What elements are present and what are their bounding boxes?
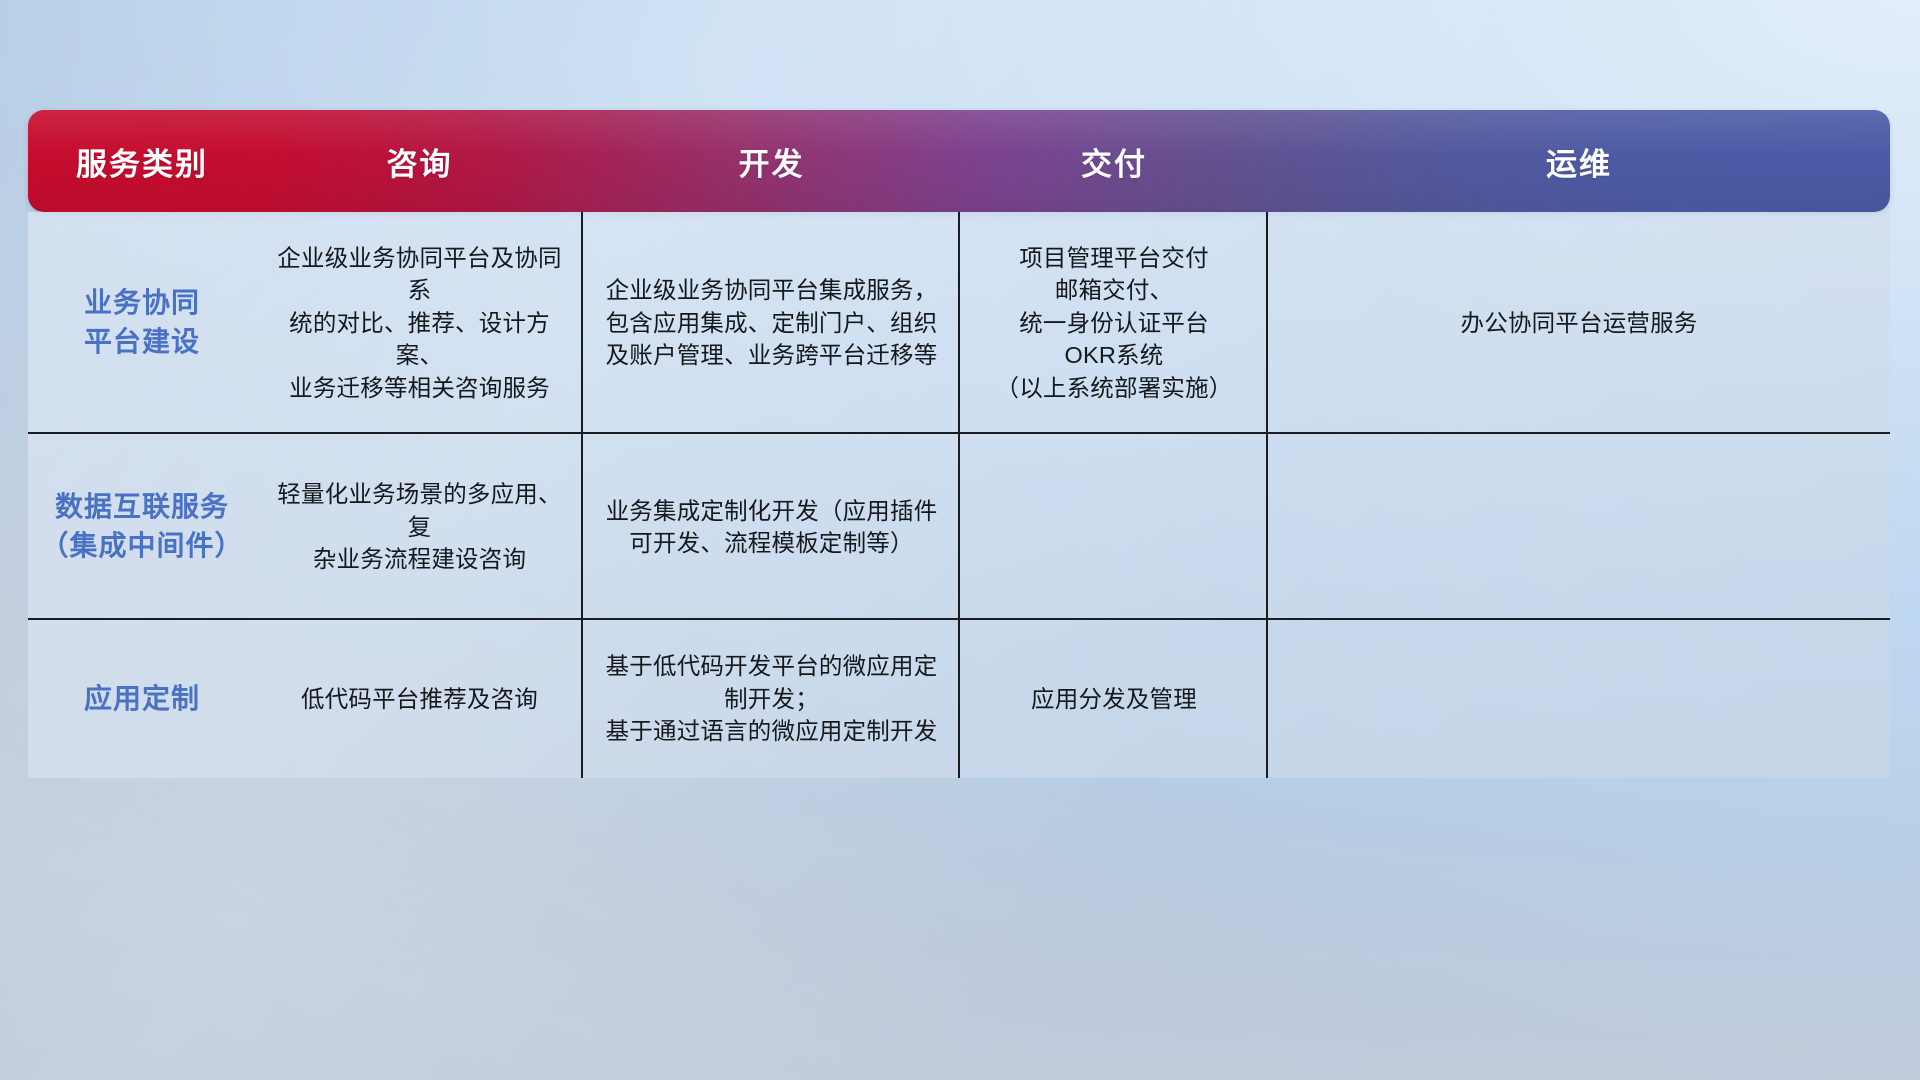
table-row: 应用定制 低代码平台推荐及咨询 基于低代码开发平台的微应用定制开发；基于通过语言…: [28, 620, 1890, 778]
table-row: 业务协同平台建设 企业级业务协同平台及协同系统的对比、推荐、设计方案、业务迁移等…: [28, 212, 1890, 434]
cell-operations: 办公协同平台运营服务: [1268, 212, 1890, 434]
category-label: 数据互联服务（集成中间件）: [40, 488, 243, 565]
cell-delivery: [960, 434, 1268, 620]
cell-operations: [1268, 434, 1890, 620]
category-label: 应用定制: [84, 680, 200, 719]
table-header-row: 服务类别 咨询 开发 交付 运维: [28, 110, 1890, 212]
cell-consulting: 企业级业务协同平台及协同系统的对比、推荐、设计方案、业务迁移等相关咨询服务: [256, 212, 583, 434]
cell-category: 业务协同平台建设: [28, 212, 256, 434]
table-row: 数据互联服务（集成中间件） 轻量化业务场景的多应用、复杂业务流程建设咨询 业务集…: [28, 434, 1890, 620]
column-header-delivery: 交付: [960, 139, 1268, 184]
cell-consulting: 低代码平台推荐及咨询: [256, 620, 583, 778]
cell-text: 办公协同平台运营服务: [1461, 307, 1698, 339]
cell-text: 基于低代码开发平台的微应用定制开发；基于通过语言的微应用定制开发: [606, 650, 938, 747]
service-matrix-table: 服务类别 咨询 开发 交付 运维 业务协同平台建设 企业级业务协同平台及协同系统…: [28, 110, 1890, 778]
cell-development: 企业级业务协同平台集成服务，包含应用集成、定制门户、组织及账户管理、业务跨平台迁…: [583, 212, 960, 434]
cell-development: 基于低代码开发平台的微应用定制开发；基于通过语言的微应用定制开发: [583, 620, 960, 778]
cell-category: 应用定制: [28, 620, 256, 778]
cell-delivery: 应用分发及管理: [960, 620, 1268, 778]
cell-text: 项目管理平台交付邮箱交付、统一身份认证平台OKR系统（以上系统部署实施）: [996, 242, 1233, 404]
table-body: 业务协同平台建设 企业级业务协同平台及协同系统的对比、推荐、设计方案、业务迁移等…: [28, 212, 1890, 778]
category-label: 业务协同平台建设: [84, 284, 200, 361]
column-header-service-category: 服务类别: [28, 139, 256, 184]
cell-development: 业务集成定制化开发（应用插件可开发、流程模板定制等）: [583, 434, 960, 620]
column-header-development: 开发: [583, 139, 960, 184]
cell-delivery: 项目管理平台交付邮箱交付、统一身份认证平台OKR系统（以上系统部署实施）: [960, 212, 1268, 434]
cell-text: 企业级业务协同平台及协同系统的对比、推荐、设计方案、业务迁移等相关咨询服务: [266, 242, 573, 404]
cell-text: 企业级业务协同平台集成服务，包含应用集成、定制门户、组织及账户管理、业务跨平台迁…: [606, 274, 938, 371]
cell-text: 轻量化业务场景的多应用、复杂业务流程建设咨询: [266, 478, 573, 575]
cell-consulting: 轻量化业务场景的多应用、复杂业务流程建设咨询: [256, 434, 583, 620]
cell-text: 业务集成定制化开发（应用插件可开发、流程模板定制等）: [606, 495, 938, 560]
cell-category: 数据互联服务（集成中间件）: [28, 434, 256, 620]
cell-text: 低代码平台推荐及咨询: [301, 683, 538, 715]
cell-operations: [1268, 620, 1890, 778]
column-header-operations: 运维: [1268, 139, 1890, 184]
column-header-consulting: 咨询: [256, 139, 583, 184]
cell-text: 应用分发及管理: [1031, 683, 1197, 715]
